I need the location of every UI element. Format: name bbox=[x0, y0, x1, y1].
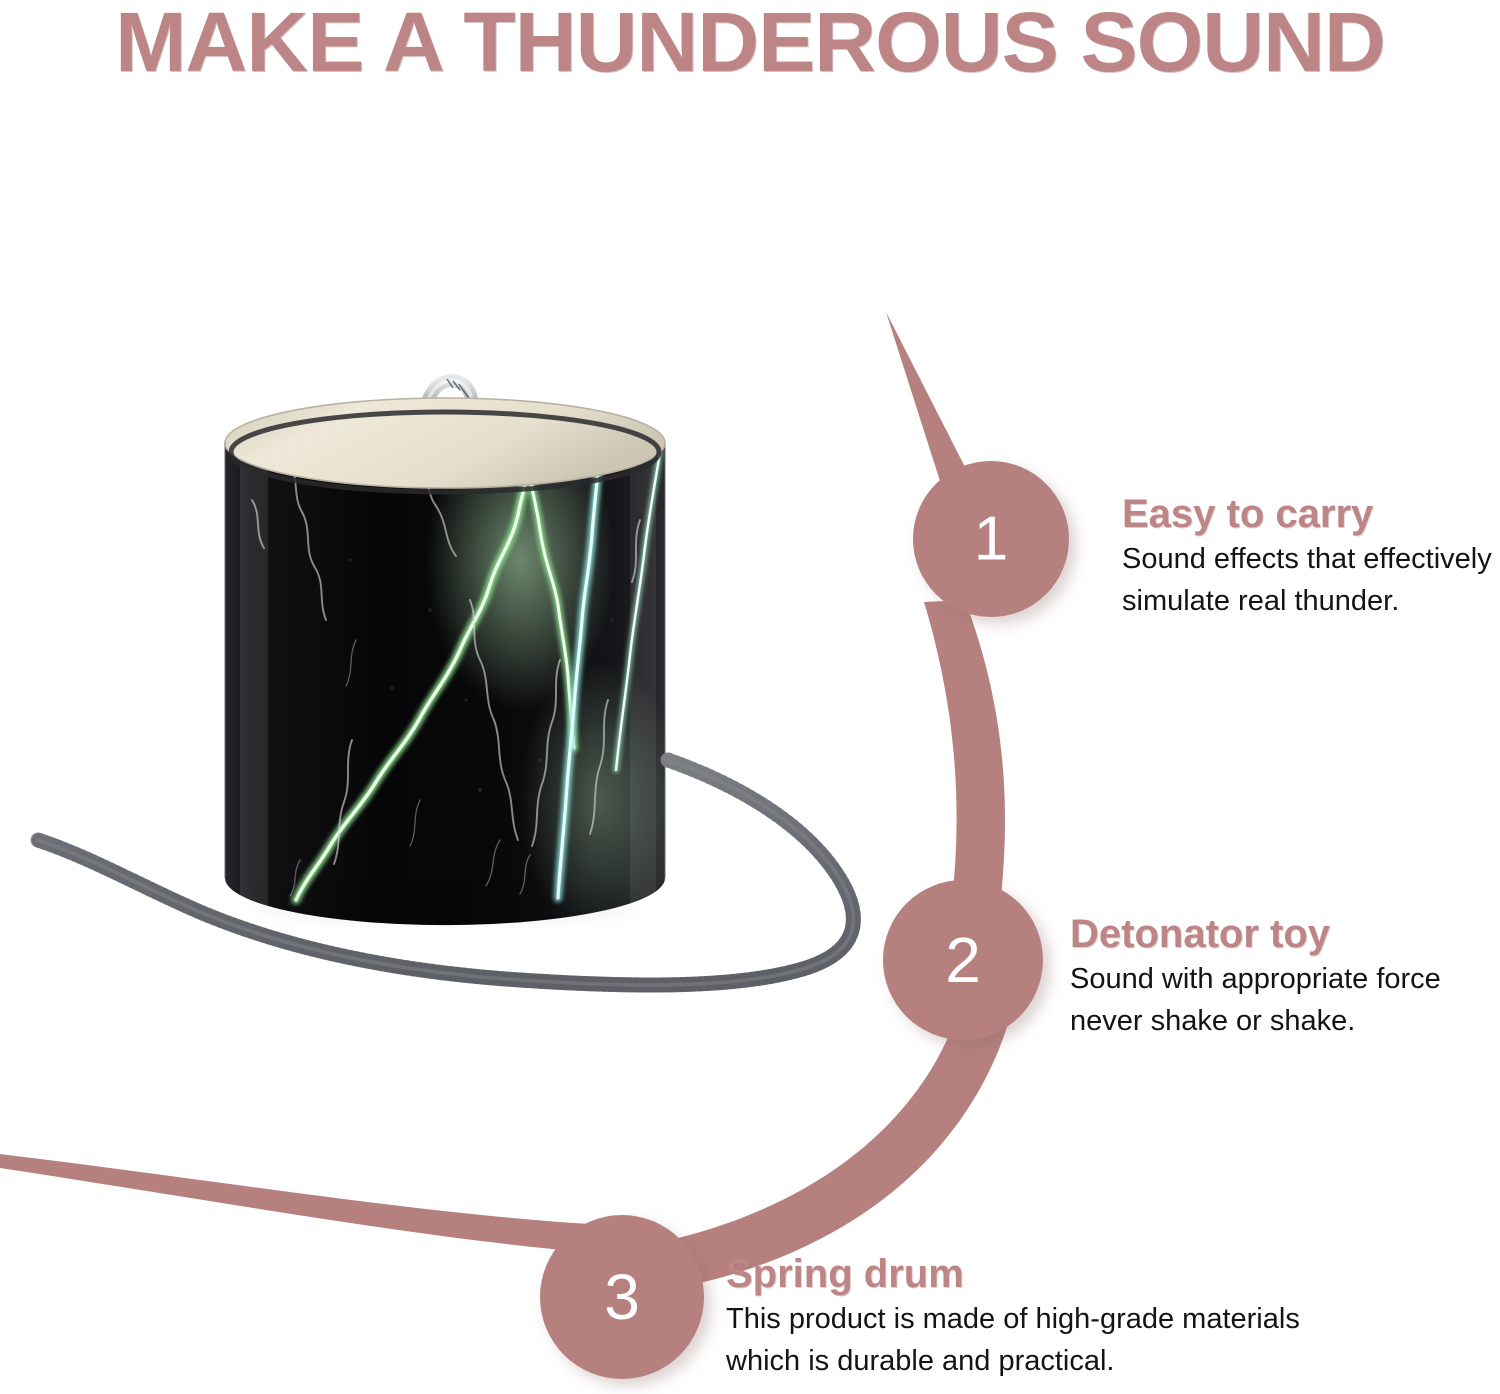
step-number-1: 1 bbox=[974, 505, 1008, 574]
step-number-3: 3 bbox=[604, 1261, 640, 1333]
step-1-body: Sound effects that effectively simulate … bbox=[1122, 538, 1492, 622]
step-2-heading: Detonator toy bbox=[1070, 912, 1441, 956]
step-number-2: 2 bbox=[945, 924, 981, 996]
step-1-heading: Easy to carry bbox=[1122, 492, 1492, 536]
step-1-text-block: Easy to carry Sound effects that effecti… bbox=[1122, 492, 1492, 622]
numbered-flow-diagram: 1 2 3 bbox=[0, 0, 1500, 1394]
step-3-heading: Spring drum bbox=[726, 1252, 1300, 1296]
step-2-body: Sound with appropriate force never shake… bbox=[1070, 958, 1441, 1042]
flow-connector-bottom bbox=[0, 1154, 590, 1252]
step-3-body: This product is made of high-grade mater… bbox=[726, 1298, 1300, 1382]
step-2-text-block: Detonator toy Sound with appropriate for… bbox=[1070, 912, 1441, 1042]
step-3-text-block: Spring drum This product is made of high… bbox=[726, 1252, 1300, 1382]
